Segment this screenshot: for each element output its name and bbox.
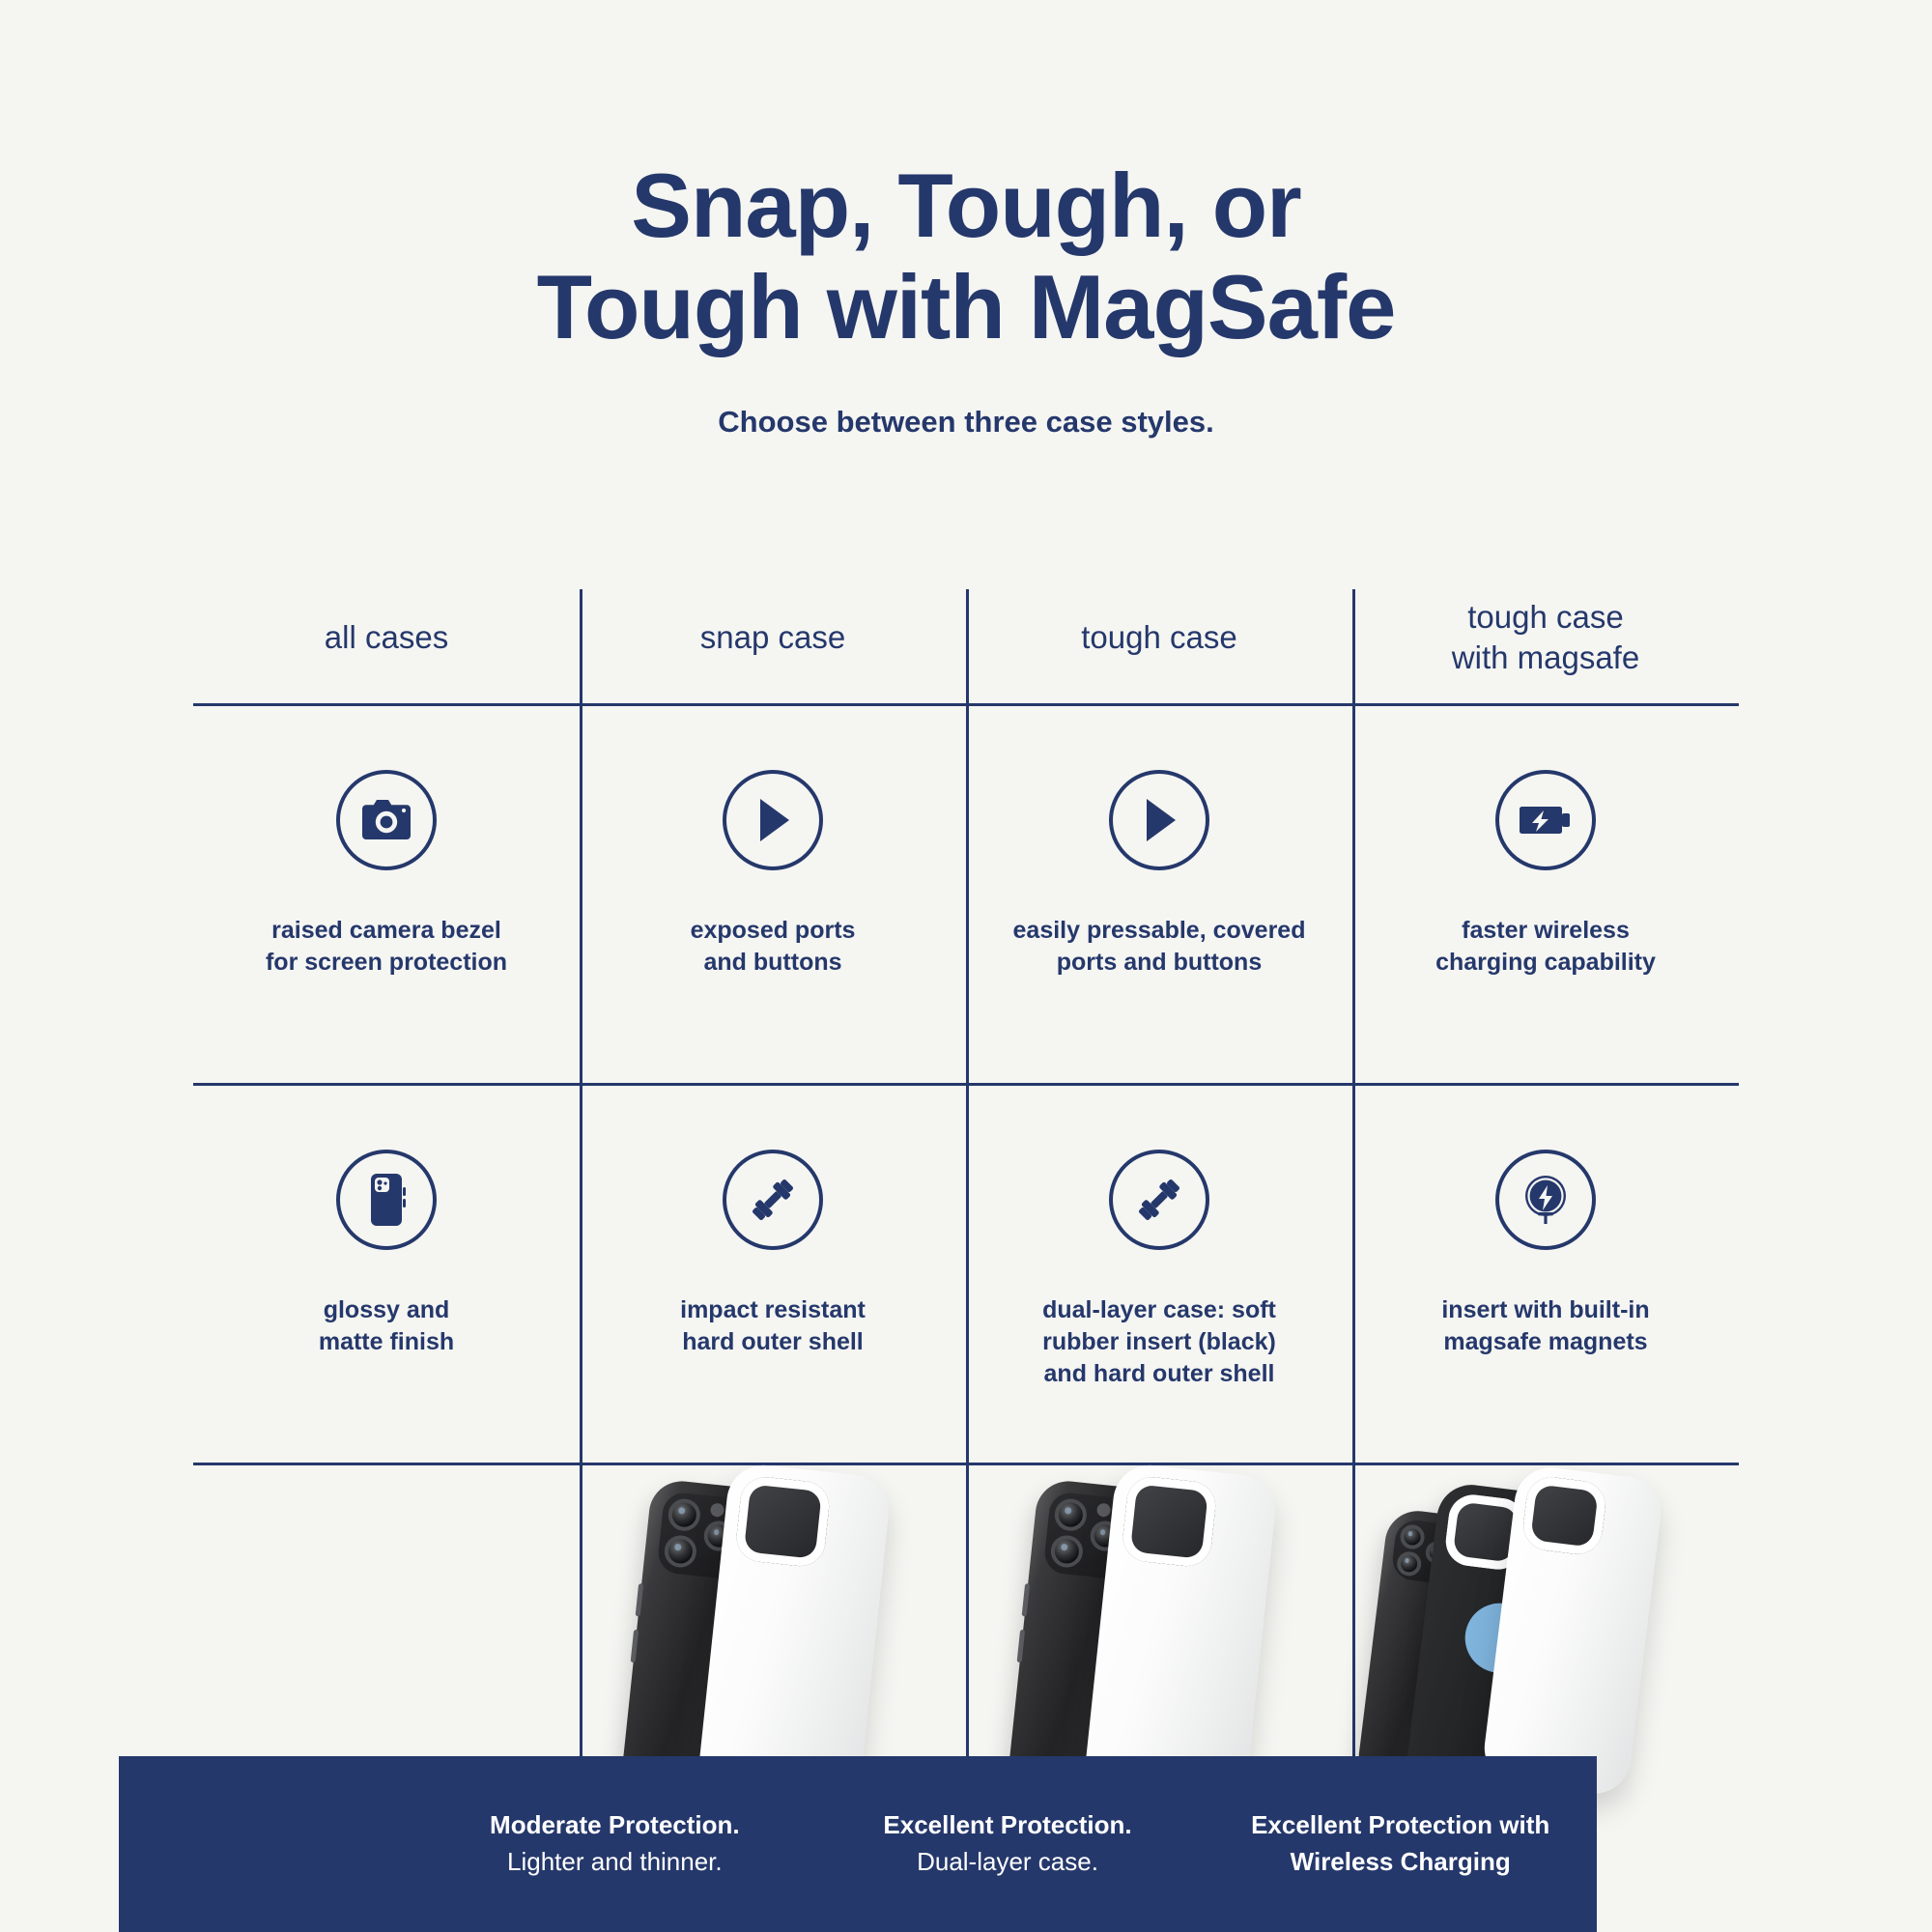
case-camera-cutout	[1520, 1475, 1608, 1557]
page-title: Snap, Tough, or Tough with MagSafe	[0, 155, 1932, 358]
header-line-1: all cases	[325, 619, 448, 655]
banner-headline: Excellent Protection with	[1227, 1807, 1574, 1844]
feature-text-line: impact resistant	[680, 1296, 866, 1323]
camera-flash	[1096, 1503, 1111, 1518]
play-triangle-icon	[723, 770, 823, 870]
cell-magsafe-feature-2: insert with built-in magsafe magnets	[1352, 1086, 1739, 1463]
side-button	[1022, 1584, 1031, 1617]
camera-lens	[663, 1534, 697, 1569]
cell-tough-case-feature-2: dual-layer case: soft rubber insert (bla…	[966, 1086, 1352, 1463]
dumbbell-icon	[1109, 1150, 1209, 1250]
case-camera-cutout	[734, 1475, 832, 1569]
feature-text-line: easily pressable, covered	[1013, 917, 1306, 944]
column-header-snap-case: snap case	[580, 580, 966, 703]
table-row: raised camera bezel for screen protectio…	[193, 706, 1739, 1083]
feature-text-line: dual-layer case: soft	[1042, 1296, 1276, 1323]
camera-lens	[1399, 1524, 1426, 1551]
feature-text-line: matte finish	[319, 1328, 454, 1355]
header-line-1: tough case	[1081, 619, 1236, 655]
feature-text-line: exposed ports	[691, 917, 856, 944]
feature-text-line: for screen protection	[266, 949, 507, 976]
dumbbell-icon	[723, 1150, 823, 1250]
phone-back-icon	[336, 1150, 437, 1250]
feature-text-line: ports and buttons	[1057, 949, 1262, 976]
feature-text-line: rubber insert (black)	[1042, 1328, 1276, 1355]
cell-tough-case-feature-1: easily pressable, covered ports and butt…	[966, 706, 1352, 1083]
product-photo-row	[193, 1465, 1739, 1784]
play-triangle-icon	[1109, 770, 1209, 870]
banner-item-magsafe: Excellent Protection with Wireless Charg…	[1204, 1807, 1597, 1880]
title-line-2: Tough with MagSafe	[0, 256, 1932, 357]
column-header-tough-case-magsafe: tough case with magsafe	[1352, 580, 1739, 703]
column-header-all-cases: all cases	[193, 580, 580, 703]
feature-text-line: insert with built-in	[1441, 1296, 1649, 1323]
side-button	[631, 1630, 639, 1662]
feature-text-line: glossy and	[324, 1296, 450, 1323]
camera-lens	[1396, 1550, 1423, 1577]
camera-lens	[1049, 1534, 1084, 1569]
protection-summary-banner: Moderate Protection. Lighter and thinner…	[119, 1756, 1597, 1932]
side-button	[1017, 1630, 1026, 1662]
banner-item-tough: Excellent Protection. Dual-layer case.	[811, 1807, 1205, 1880]
feature-text-line: and buttons	[703, 949, 841, 976]
camera-icon	[336, 770, 437, 870]
feature-text-line: raised camera bezel	[271, 917, 501, 944]
page-subtitle: Choose between three case styles.	[0, 405, 1932, 440]
banner-subline: Wireless Charging	[1227, 1844, 1574, 1881]
battery-charging-icon	[1495, 770, 1596, 870]
feature-text-line: magsafe magnets	[1443, 1328, 1647, 1355]
header-line-2: with magsafe	[1452, 639, 1639, 675]
side-button	[636, 1584, 644, 1617]
snap-case-photo	[580, 1465, 966, 1784]
title-line-1: Snap, Tough, or	[631, 155, 1300, 256]
tough-magsafe-case-photo	[1352, 1465, 1739, 1784]
banner-subline: Lighter and thinner.	[441, 1844, 788, 1881]
magsafe-puck-icon	[1495, 1150, 1596, 1250]
tough-case-photo	[966, 1465, 1352, 1784]
camera-lens	[667, 1498, 701, 1533]
infographic-page: Snap, Tough, or Tough with MagSafe Choos…	[0, 0, 1932, 1932]
cell-all-cases-feature-2: glossy and matte finish	[193, 1086, 580, 1463]
banner-headline: Moderate Protection.	[441, 1807, 788, 1844]
banner-subline: Dual-layer case.	[835, 1844, 1181, 1881]
cell-snap-case-feature-2: impact resistant hard outer shell	[580, 1086, 966, 1463]
cell-magsafe-feature-1: faster wireless charging capability	[1352, 706, 1739, 1083]
hero-section: Snap, Tough, or Tough with MagSafe Choos…	[0, 0, 1932, 440]
table-header-row: all cases snap case tough case tough cas…	[193, 580, 1739, 703]
cell-all-cases-feature-1: raised camera bezel for screen protectio…	[193, 706, 580, 1083]
feature-text-line: charging capability	[1435, 949, 1656, 976]
camera-lens	[1053, 1498, 1088, 1533]
banner-headline: Excellent Protection.	[835, 1807, 1181, 1844]
feature-text-line: hard outer shell	[682, 1328, 864, 1355]
header-line-1: tough case	[1467, 599, 1623, 635]
column-header-tough-case: tough case	[966, 580, 1352, 703]
cell-snap-case-feature-1: exposed ports and buttons	[580, 706, 966, 1083]
case-camera-cutout	[1121, 1475, 1218, 1569]
feature-text-line: and hard outer shell	[1044, 1360, 1275, 1387]
header-line-1: snap case	[700, 619, 845, 655]
banner-item-snap: Moderate Protection. Lighter and thinner…	[418, 1807, 811, 1880]
table-row: glossy and matte finish	[193, 1086, 1739, 1463]
photo-cell-empty	[193, 1465, 580, 1784]
comparison-table: all cases snap case tough case tough cas…	[193, 580, 1739, 1784]
camera-flash	[710, 1503, 724, 1518]
feature-text-line: faster wireless	[1462, 917, 1630, 944]
